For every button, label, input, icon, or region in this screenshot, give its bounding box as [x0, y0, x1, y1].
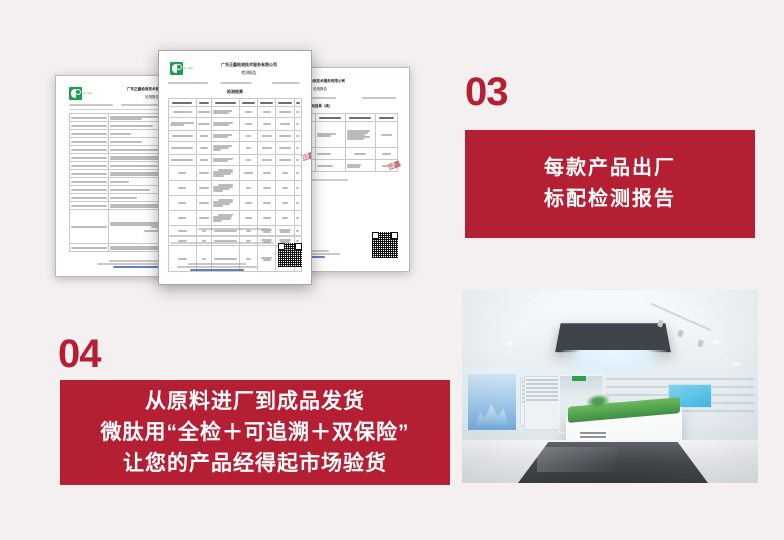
banner-04-line-2: 微肽用“全检＋可追溯＋双保险”: [101, 417, 410, 448]
showroom-photo[interactable]: [462, 290, 758, 483]
document-section-title: 检测结果: [168, 89, 302, 95]
document-center[interactable]: ZX TEST 广东正鑫检测技术服务有限公司 检测报告 检测结果: [158, 50, 312, 285]
document-title: 检测报告: [194, 71, 304, 76]
section-number-03: 03: [465, 72, 508, 112]
banner-03-line-2: 标配检测报告: [544, 184, 676, 215]
lab-logo-icon: ZX TEST: [69, 87, 93, 100]
approval-stamp-icon: 正鑫: [301, 150, 312, 164]
section-number-04: 04: [58, 334, 101, 374]
banner-03-line-1: 每款产品出厂: [544, 153, 676, 184]
approval-stamp-icon: 正鑫: [387, 159, 402, 173]
banner-04-line-1: 从原料进厂到成品发货: [145, 386, 365, 417]
banner-04-line-3: 让您的产品经得起市场验货: [123, 448, 387, 479]
document-company: 广东正鑫检测技术服务有限公司: [194, 62, 304, 68]
poster-canvas: ZX TEST 广东正鑫检测技术服务有限公司 检测报告: [0, 0, 784, 540]
photo-vignette: [462, 290, 758, 483]
certificate-documents-group: ZX TEST 广东正鑫检测技术服务有限公司 检测报告: [55, 40, 405, 285]
lab-logo-icon: ZX TEST: [170, 62, 194, 75]
document-footer: [158, 262, 288, 272]
banner-04: 从原料进厂到成品发货 微肽用“全检＋可追溯＋双保险” 让您的产品经得起市场验货: [60, 380, 450, 485]
banner-03: 每款产品出厂 标配检测报告: [465, 130, 755, 238]
